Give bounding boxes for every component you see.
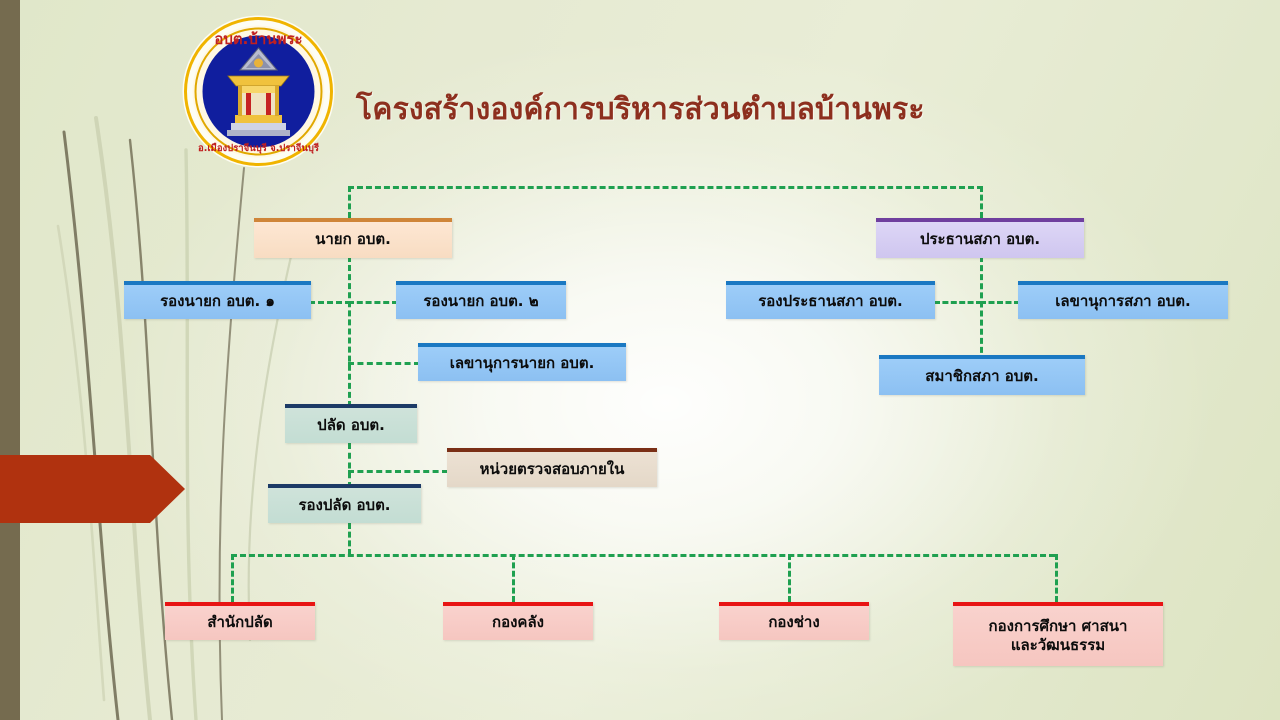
node-samachik-sapha[interactable]: สมาชิกสภา อบต. bbox=[879, 355, 1085, 395]
decorative-arrow-shape bbox=[0, 455, 185, 523]
connector-top-right-drop bbox=[980, 186, 983, 218]
node-samnak-palad-label: สำนักปลัด bbox=[207, 613, 272, 632]
node-rong-nayok-2-label: รองนายก อบต. ๒ bbox=[423, 292, 538, 311]
connector-bottom-bus bbox=[231, 554, 1055, 557]
connector-drop-samnak bbox=[231, 554, 234, 602]
connector-rongpalad-spine bbox=[348, 523, 351, 555]
node-palad[interactable]: ปลัด อบต. bbox=[285, 404, 417, 443]
logo-bottom-text: อ.เมืองปราจีนบุรี จ.ปราจีนบุรี bbox=[198, 142, 320, 154]
node-lekhanukan-nayok[interactable]: เลขานุการนายก อบต. bbox=[418, 343, 626, 381]
connector-to-lekhasapha bbox=[980, 301, 1020, 304]
connector-top-left-drop bbox=[348, 186, 351, 218]
connector-drop-chang bbox=[788, 554, 791, 602]
node-kong-kan-suksa-label-line2: และวัฒนธรรม bbox=[1011, 636, 1105, 655]
node-nayok[interactable]: นายก อบต. bbox=[254, 218, 452, 258]
node-rong-prathan-sapha-label: รองประธานสภา อบต. bbox=[758, 292, 903, 311]
node-rong-nayok-1-label: รองนายก อบต. ๑ bbox=[160, 292, 275, 311]
node-rong-prathan-sapha[interactable]: รองประธานสภา อบต. bbox=[726, 281, 935, 319]
node-rong-nayok-1[interactable]: รองนายก อบต. ๑ bbox=[124, 281, 311, 319]
connector-to-lekhanayok bbox=[348, 362, 420, 365]
node-lekhanukan-sapha-label: เลขานุการสภา อบต. bbox=[1055, 292, 1190, 311]
node-kong-khlang[interactable]: กองคลัง bbox=[443, 602, 593, 640]
connector-to-rong1 bbox=[309, 301, 351, 304]
page-title: โครงสร้างองค์การบริหารส่วนตำบลบ้านพระ bbox=[356, 86, 925, 133]
node-kong-khlang-label: กองคลัง bbox=[492, 613, 544, 632]
slide-canvas: อบต.บ้านพระ อ.เมืองปราจีนบุรี จ.ปราจีนบุ… bbox=[0, 0, 1280, 720]
connector-to-rong2 bbox=[348, 301, 398, 304]
node-lekhanukan-nayok-label: เลขานุการนายก อบต. bbox=[450, 354, 595, 373]
left-accent-bar bbox=[0, 0, 20, 720]
node-rong-palad[interactable]: รองปลัด อบต. bbox=[268, 484, 421, 523]
connector-to-internal-audit bbox=[348, 470, 448, 473]
node-kong-kan-suksa[interactable]: กองการศึกษา ศาสนา และวัฒนธรรม bbox=[953, 602, 1163, 666]
node-kong-chang[interactable]: กองช่าง bbox=[719, 602, 869, 640]
node-rong-palad-label: รองปลัด อบต. bbox=[298, 496, 390, 515]
node-kong-kan-suksa-label-line1: กองการศึกษา ศาสนา bbox=[989, 617, 1128, 636]
node-samachik-sapha-label: สมาชิกสภา อบต. bbox=[925, 367, 1038, 386]
node-internal-audit-label: หน่วยตรวจสอบภายใน bbox=[480, 460, 625, 479]
connector-executive-spine bbox=[348, 256, 351, 416]
connector-drop-suksa bbox=[1055, 554, 1058, 602]
node-rong-nayok-2[interactable]: รองนายก อบต. ๒ bbox=[396, 281, 566, 319]
connector-council-spine bbox=[980, 256, 983, 362]
node-kong-chang-label: กองช่าง bbox=[768, 613, 819, 632]
connector-drop-khlang bbox=[512, 554, 515, 602]
connector-palad-spine bbox=[348, 443, 351, 488]
logo-top-text: อบต.บ้านพระ bbox=[214, 30, 302, 48]
node-internal-audit[interactable]: หน่วยตรวจสอบภายใน bbox=[447, 448, 657, 487]
node-samnak-palad[interactable]: สำนักปลัด bbox=[165, 602, 315, 640]
node-nayok-label: นายก อบต. bbox=[315, 230, 391, 249]
node-lekhanukan-sapha[interactable]: เลขานุการสภา อบต. bbox=[1018, 281, 1228, 319]
node-prathan-sapha-label: ประธานสภา อบต. bbox=[920, 230, 1040, 249]
connector-to-rongprathan bbox=[934, 301, 982, 304]
organization-logo: อบต.บ้านพระ อ.เมืองปราจีนบุรี จ.ปราจีนบุ… bbox=[181, 14, 336, 169]
connector-top-bus bbox=[348, 186, 983, 189]
node-palad-label: ปลัด อบต. bbox=[317, 416, 385, 435]
node-prathan-sapha[interactable]: ประธานสภา อบต. bbox=[876, 218, 1084, 258]
